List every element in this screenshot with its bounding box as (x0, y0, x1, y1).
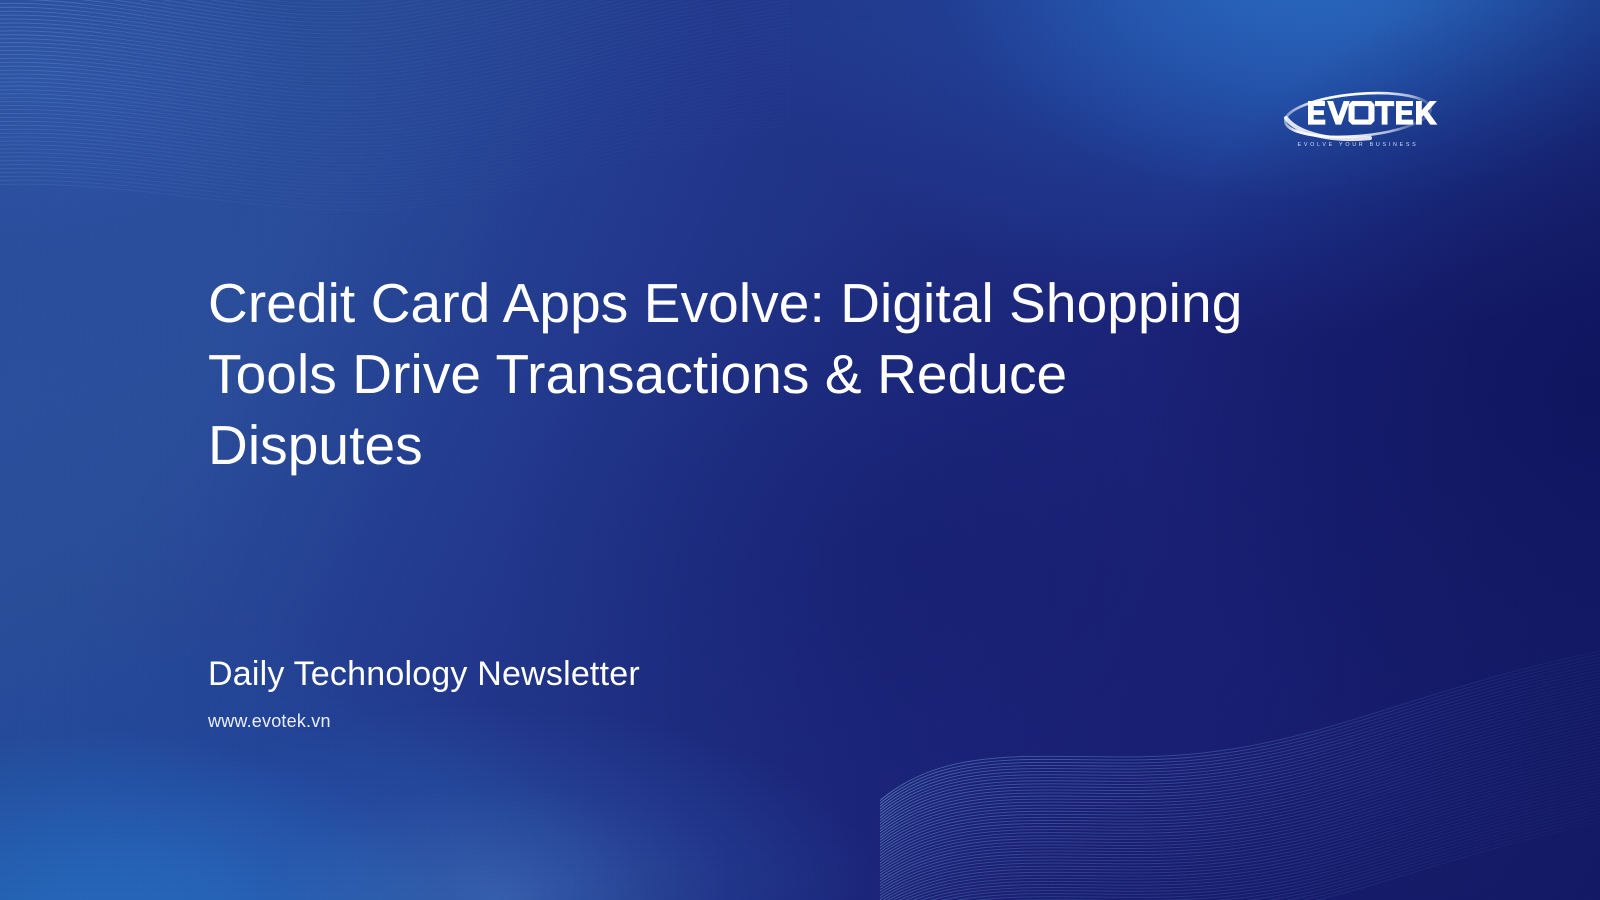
page-title: Credit Card Apps Evolve: Digital Shoppin… (208, 268, 1268, 481)
slide-text-block: Credit Card Apps Evolve: Digital Shoppin… (208, 0, 1308, 900)
title-slide: EVOLVE YOUR BUSINESS Credit Card Apps Ev… (0, 0, 1600, 900)
evotek-wordmark (1308, 101, 1437, 125)
slide-subtitle: Daily Technology Newsletter (208, 654, 640, 695)
slide-website-url[interactable]: www.evotek.vn (208, 710, 331, 733)
evotek-tagline: EVOLVE YOUR BUSINESS (1298, 142, 1419, 148)
